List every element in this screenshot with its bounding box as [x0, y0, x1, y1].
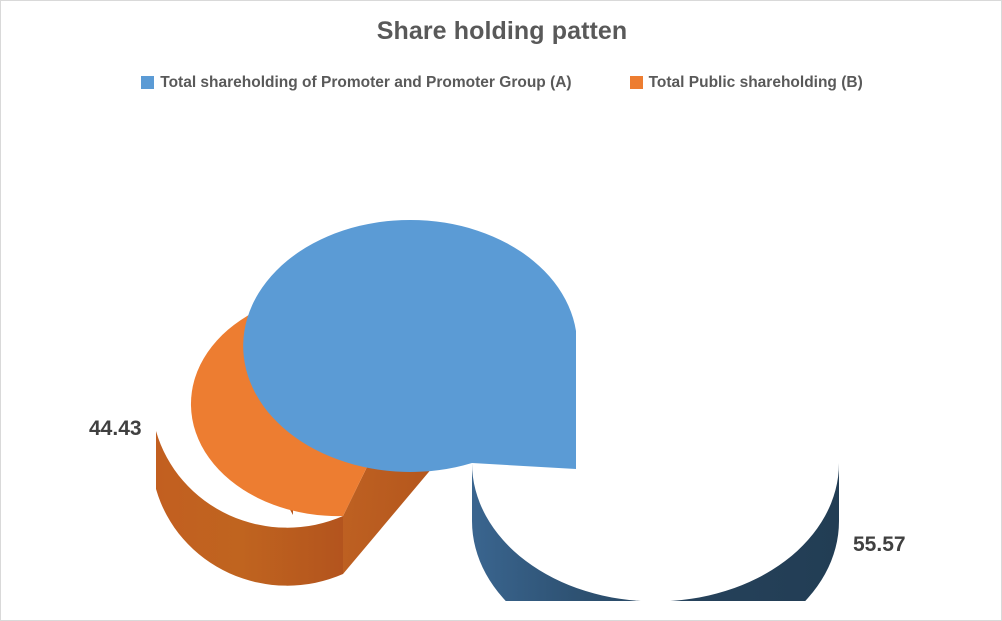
legend-label-public: Total Public shareholding (B) — [649, 75, 863, 91]
data-label-promoter: 55.57 — [853, 533, 906, 557]
pie-slice-promoter-top — [243, 220, 576, 472]
legend-label-promoter: Total shareholding of Promoter and Promo… — [160, 75, 571, 91]
chart-legend: Total shareholding of Promoter and Promo… — [1, 75, 1002, 91]
data-label-public: 44.43 — [89, 417, 142, 441]
legend-swatch-public-icon — [630, 76, 643, 89]
chart-canvas: Share holding patten Total shareholding … — [0, 0, 1002, 621]
pie-slice-promoter-rim — [472, 463, 839, 601]
pie-chart-svg — [1, 131, 1002, 601]
legend-swatch-promoter-icon — [141, 76, 154, 89]
pie-plot-area: 44.43 55.57 — [1, 131, 1002, 601]
legend-item-public[interactable]: Total Public shareholding (B) — [630, 75, 863, 91]
chart-title: Share holding patten — [1, 17, 1002, 46]
legend-item-promoter[interactable]: Total shareholding of Promoter and Promo… — [141, 75, 571, 91]
